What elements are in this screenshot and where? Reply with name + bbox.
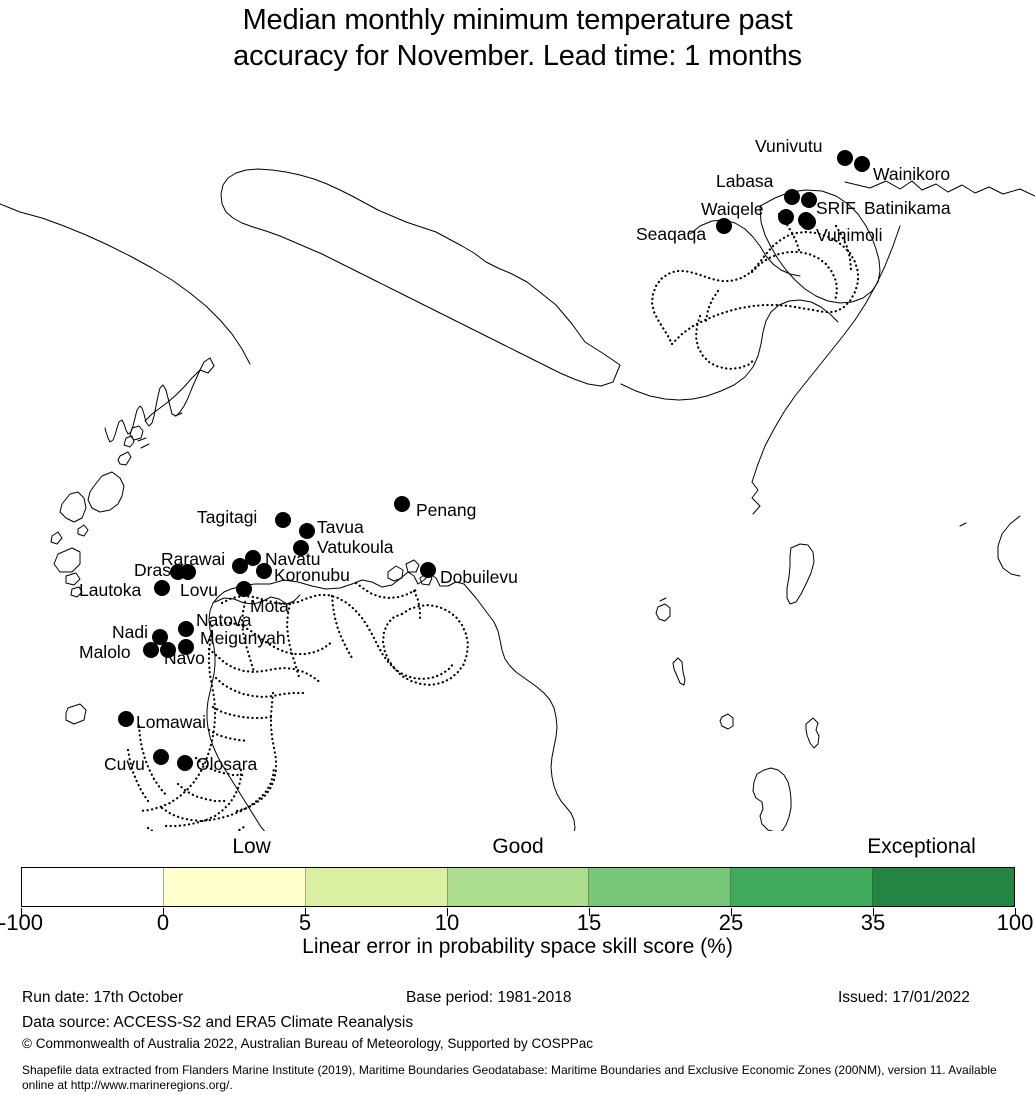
station-marker[interactable] <box>420 562 436 578</box>
station-label: Vunimoli <box>816 227 882 245</box>
colorbar-segment <box>22 868 164 906</box>
station-label: Nadi <box>112 624 148 642</box>
colorbar: LowGoodExceptional -1000510152535100 Lin… <box>0 836 1035 961</box>
colorbar-category-label: Low <box>232 836 271 857</box>
station-marker[interactable] <box>154 580 170 596</box>
station-marker[interactable] <box>801 192 817 208</box>
station-marker[interactable] <box>837 150 853 166</box>
station-label: Wainikoro <box>873 166 950 184</box>
footer: Run date: 17th October Base period: 1981… <box>0 966 1035 1095</box>
station-label: Mota <box>250 598 289 616</box>
issued-date-text: Issued: 17/01/2022 <box>838 989 970 1006</box>
colorbar-segment <box>589 868 731 906</box>
station-label: Vunivutu <box>755 138 822 156</box>
station-label: Cuvu <box>104 756 145 774</box>
station-marker[interactable] <box>800 214 816 230</box>
station-label: Olosara <box>196 756 257 774</box>
station-marker[interactable] <box>778 209 794 225</box>
run-date-text: Run date: 17th October <box>22 989 183 1006</box>
station-marker[interactable] <box>232 558 248 574</box>
station-label: Natova <box>196 612 251 630</box>
station-marker[interactable] <box>236 581 252 597</box>
colorbar-tick-label: 0 <box>157 912 169 934</box>
colorbar-segment <box>306 868 448 906</box>
station-marker[interactable] <box>170 564 186 580</box>
station-marker[interactable] <box>118 711 134 727</box>
station-marker[interactable] <box>293 540 309 556</box>
colorbar-tick-label: 5 <box>299 912 311 934</box>
station-label: Seaqaqa <box>636 226 706 244</box>
station-marker[interactable] <box>178 639 194 655</box>
station-label: Lautoka <box>79 582 141 600</box>
colorbar-tick-label: -100 <box>0 912 43 934</box>
station-label: Tagitagi <box>197 509 257 527</box>
station-marker[interactable] <box>256 563 272 579</box>
station-marker[interactable] <box>716 218 732 234</box>
map-canvas: VunivutuWainikoroLabasaWaiqeleSRIFBatini… <box>0 86 1035 831</box>
colorbar-category-label: Good <box>492 836 543 857</box>
station-label: Dobuilevu <box>440 569 518 587</box>
station-marker[interactable] <box>275 512 291 528</box>
colorbar-segment <box>164 868 306 906</box>
station-label: SRIF <box>816 200 856 218</box>
station-label: Koronubu <box>274 567 350 585</box>
station-label: Tavua <box>317 519 364 537</box>
colorbar-tick-label: 10 <box>435 912 459 934</box>
station-label: Meigunyah <box>200 630 286 648</box>
station-marker[interactable] <box>394 496 410 512</box>
page-title: Median monthly minimum temperature past … <box>0 2 1035 74</box>
colorbar-gradient <box>21 867 1015 907</box>
colorbar-category-label: Exceptional <box>867 836 976 857</box>
page-title-line-2: accuracy for November. Lead time: 1 mont… <box>0 38 1035 74</box>
colorbar-segment <box>448 868 590 906</box>
colorbar-segment <box>873 868 1014 906</box>
station-marker[interactable] <box>178 621 194 637</box>
station-label: Lovu <box>180 582 218 600</box>
shapefile-note-text: Shapefile data extracted from Flanders M… <box>22 1063 1022 1093</box>
colorbar-tick-label: 100 <box>997 912 1034 934</box>
copyright-text: © Commonwealth of Australia 2022, Austra… <box>22 1036 593 1051</box>
colorbar-tick-label: 25 <box>719 912 743 934</box>
station-label: Batinikama <box>864 200 951 218</box>
station-marker[interactable] <box>160 642 176 658</box>
station-label: Labasa <box>716 173 773 191</box>
station-label: Malolo <box>79 644 131 662</box>
station-marker[interactable] <box>143 642 159 658</box>
station-marker[interactable] <box>299 523 315 539</box>
station-marker[interactable] <box>177 755 193 771</box>
base-period-text: Base period: 1981-2018 <box>406 989 571 1006</box>
station-label: Penang <box>416 502 476 520</box>
colorbar-tick-label: 15 <box>577 912 601 934</box>
station-marker[interactable] <box>784 189 800 205</box>
data-source-text: Data source: ACCESS-S2 and ERA5 Climate … <box>22 1014 413 1031</box>
station-marker[interactable] <box>854 156 870 172</box>
station-label: Vatukoula <box>317 539 394 557</box>
colorbar-axis-label: Linear error in probability space skill … <box>0 936 1035 958</box>
colorbar-segment <box>731 868 873 906</box>
colorbar-tick-label: 35 <box>861 912 885 934</box>
page-title-line-1: Median monthly minimum temperature past <box>0 2 1035 38</box>
station-label: Lomawai <box>136 714 206 732</box>
station-marker[interactable] <box>153 749 169 765</box>
station-label: Waiqele <box>701 201 764 219</box>
